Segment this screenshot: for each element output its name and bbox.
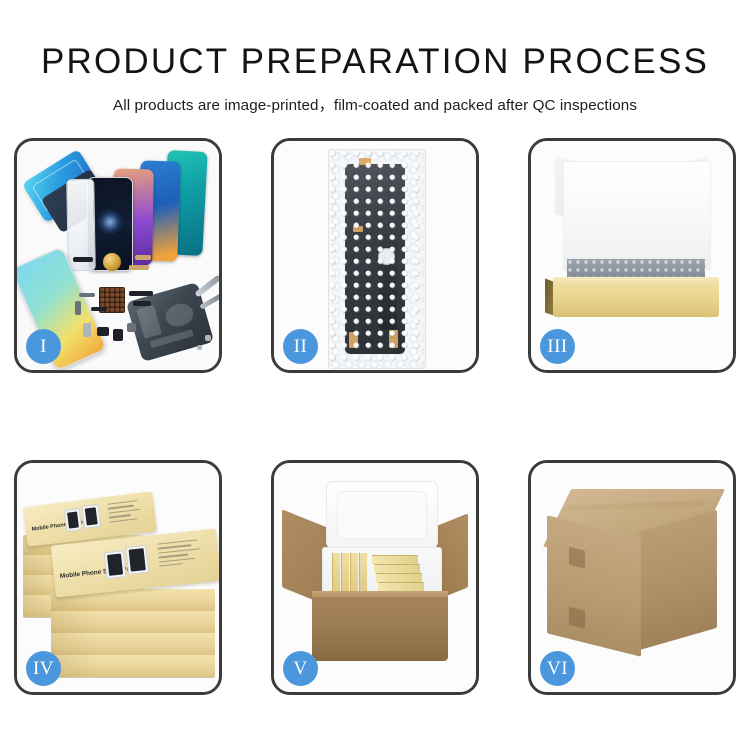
part-bracket-1	[79, 293, 95, 297]
stacked-boxes-icon: Mobile Phone Spare Parts Mobile Phone Sp…	[23, 477, 219, 683]
part-screw-1	[127, 323, 136, 332]
box-window-top-2	[81, 504, 101, 529]
retail-box-flat-2	[374, 564, 420, 573]
phone-lineup-icon	[61, 149, 221, 267]
part-screw-4	[197, 345, 202, 350]
part-screw-2	[143, 317, 150, 324]
process-step-card-5[interactable]: V	[271, 460, 479, 695]
yellow-box-front	[553, 283, 719, 317]
bubble-wrap-icon	[328, 149, 426, 369]
retail-box-flat-3	[376, 573, 422, 582]
step-badge-5: V	[283, 651, 318, 686]
retail-box-flat-1	[372, 555, 418, 564]
process-step-card-1[interactable]: I	[14, 138, 222, 373]
step-badge-6: VI	[540, 651, 575, 686]
retail-box-flat-4	[378, 582, 424, 591]
part-flex-3	[129, 291, 153, 296]
part-flex-2	[129, 265, 149, 270]
part-cable-1	[91, 307, 107, 311]
stack-box-b2	[51, 611, 215, 633]
process-step-card-6[interactable]: VI	[528, 460, 736, 695]
part-screw-3	[205, 335, 211, 341]
page-subtitle: All products are image-printed，film-coat…	[0, 82, 750, 115]
box-window-front-2	[125, 545, 149, 575]
stack-box-b4	[51, 655, 215, 677]
backplate-camera	[163, 301, 196, 330]
box-window-top-1	[64, 508, 83, 532]
process-step-card-2[interactable]: II	[271, 138, 479, 373]
part-sensor-1	[83, 323, 91, 337]
page-title: PRODUCT PREPARATION PROCESS	[0, 0, 750, 82]
carton-front-panel	[547, 515, 641, 656]
part-bracket-2	[75, 301, 81, 315]
carton-right-panel	[639, 510, 717, 650]
step-badge-2: II	[283, 329, 318, 364]
part-module-1	[113, 329, 123, 341]
step-badge-4: IV	[26, 651, 61, 686]
carton-tape-upper	[569, 547, 585, 569]
foam-sheet-icon	[563, 161, 711, 271]
part-strip-1	[73, 257, 93, 262]
carton-front-panel	[312, 597, 448, 661]
part-flex-1	[135, 255, 151, 260]
box-spec-lines-top	[107, 500, 143, 526]
box-spec-lines-front	[157, 539, 206, 570]
process-step-card-4[interactable]: Mobile Phone Spare Parts Mobile Phone Sp…	[14, 460, 222, 695]
process-step-card-3[interactable]: III	[528, 138, 736, 373]
bubble-texture	[329, 150, 425, 368]
speaker-coil-icon	[103, 253, 121, 271]
step-badge-1: I	[26, 329, 61, 364]
page-header: PRODUCT PREPARATION PROCESS All products…	[0, 0, 750, 115]
process-steps-grid: I II	[14, 138, 736, 695]
box-window-front-1	[104, 550, 127, 579]
step-badge-3: III	[540, 329, 575, 364]
part-camera-1	[97, 327, 109, 336]
foam-lid-icon	[326, 481, 438, 549]
carton-tape-lower	[569, 607, 585, 629]
stack-box-b3	[51, 633, 215, 655]
part-flex-4	[133, 301, 151, 306]
